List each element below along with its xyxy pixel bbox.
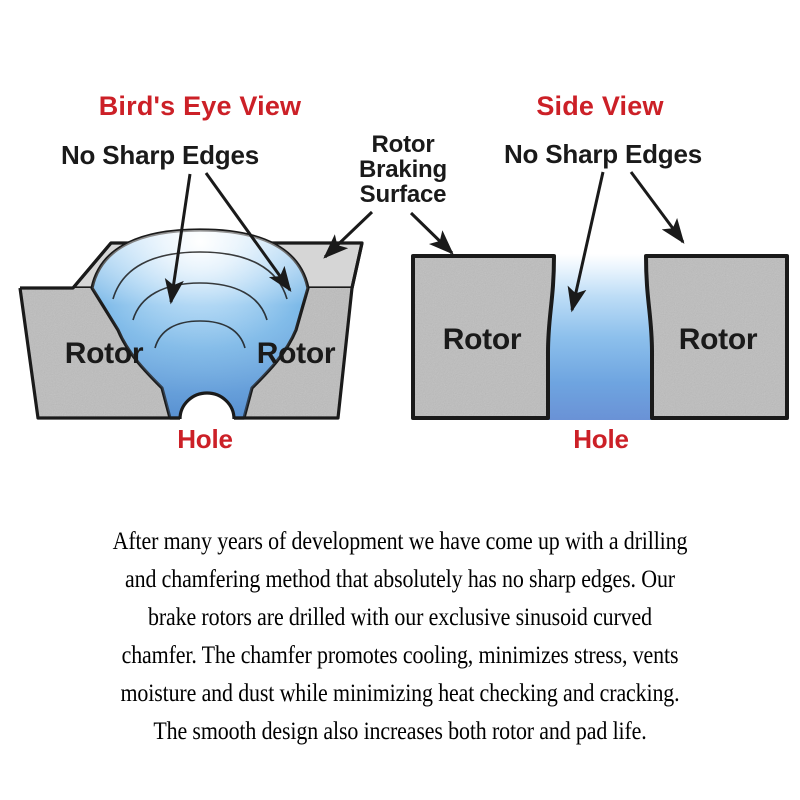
caption-line-6: The smooth design also increases both ro… (63, 712, 737, 750)
rotor-braking-surface-group: Rotor Braking Surface (325, 131, 452, 257)
hole-label-left: Hole (177, 424, 233, 454)
rotor-label-left-2: Rotor (257, 337, 336, 370)
birds-eye-view-group: Bird's Eye View No Sharp Edges (20, 91, 362, 454)
arrow-braking-surface-right (411, 213, 452, 253)
side-view-group: Side View No Sharp Edges Rotor Rotor Hol… (413, 91, 787, 454)
no-sharp-edges-label-right: No Sharp Edges (504, 139, 702, 169)
caption-line-5: moisture and dust while minimizing heat … (63, 674, 737, 712)
hole-label-right: Hole (573, 424, 629, 454)
braking-surface-label-line1: Rotor (372, 131, 435, 158)
braking-surface-label-line2: Braking (359, 156, 447, 183)
caption-line-1: After many years of development we have … (63, 522, 737, 560)
rotor-label-right-2: Rotor (679, 323, 758, 356)
rotor-label-left-1: Rotor (65, 337, 144, 370)
caption-paragraph: After many years of development we have … (0, 522, 800, 750)
rotor-diagram-svg: Bird's Eye View No Sharp Edges (0, 0, 800, 520)
birds-eye-view-title: Bird's Eye View (99, 91, 302, 121)
no-sharp-edges-label-left: No Sharp Edges (61, 140, 259, 170)
side-hole-gap (545, 254, 657, 420)
caption-line-4: chamfer. The chamfer promotes cooling, m… (63, 636, 737, 674)
arrow-no-sharp-edges-right-b (631, 172, 683, 242)
side-view-title: Side View (536, 91, 664, 121)
caption-line-3: brake rotors are drilled with our exclus… (63, 598, 737, 636)
braking-surface-label-line3: Surface (360, 181, 447, 208)
rotor-chamfer-figure: Bird's Eye View No Sharp Edges (0, 0, 800, 800)
caption-line-2: and chamfering method that absolutely ha… (63, 560, 737, 598)
rotor-label-right-1: Rotor (443, 323, 522, 356)
